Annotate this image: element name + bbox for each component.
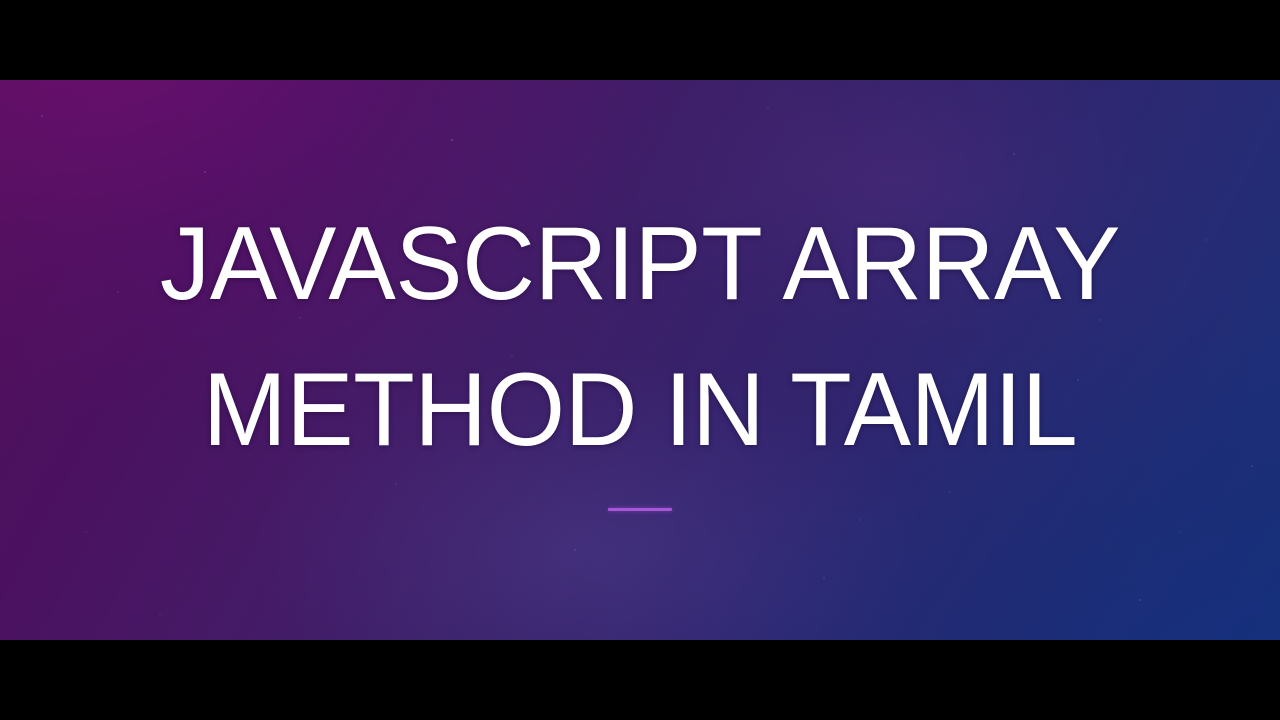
- slide-title-line-1: JAVASCRIPT ARRAY: [19, 212, 1261, 316]
- letterbox-bar-top: [0, 0, 1280, 80]
- slide-title-block: JAVASCRIPT ARRAY METHOD IN TAMIL: [0, 80, 1280, 640]
- title-slide: JAVASCRIPT ARRAY METHOD IN TAMIL: [0, 80, 1280, 640]
- letterbox-bar-bottom: [0, 640, 1280, 720]
- title-divider-rule: [608, 508, 672, 511]
- video-frame: JAVASCRIPT ARRAY METHOD IN TAMIL: [0, 0, 1280, 720]
- slide-title-line-2: METHOD IN TAMIL: [19, 358, 1261, 462]
